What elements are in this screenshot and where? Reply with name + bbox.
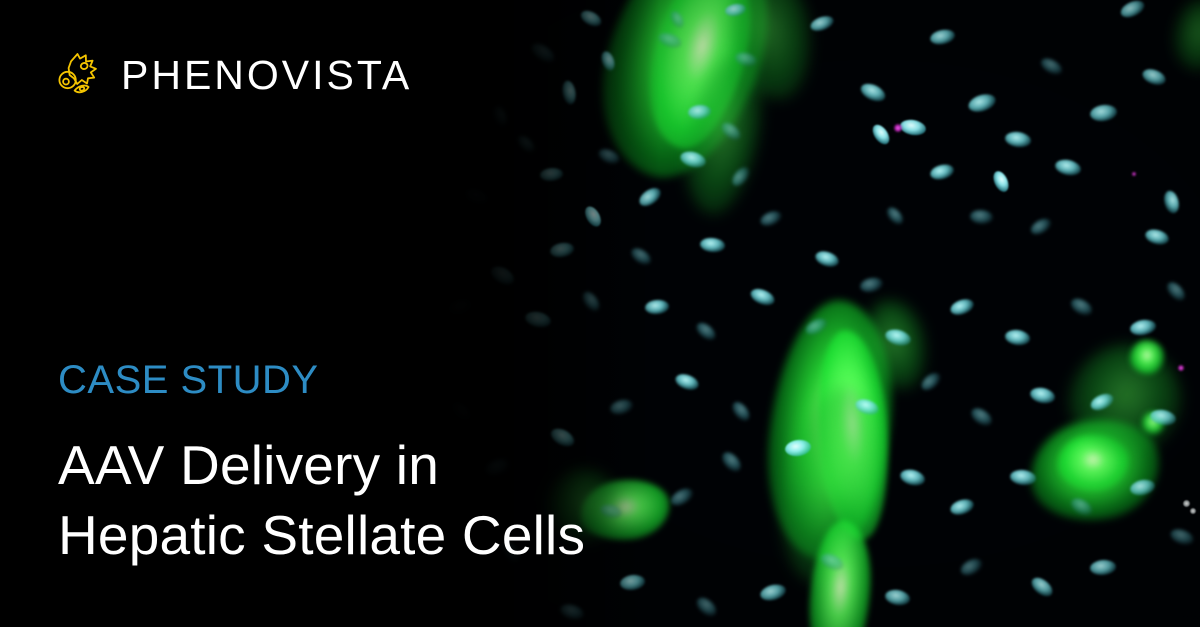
cell-nucleus <box>1162 189 1181 215</box>
case-study-banner: PHENOVISTA CASE STUDY AAV Delivery in He… <box>0 0 1200 627</box>
cell-nucleus <box>813 249 840 270</box>
cell-nucleus <box>884 588 911 607</box>
cell-nucleus <box>1140 66 1167 87</box>
cell-nucleus <box>644 299 669 315</box>
cell-nucleus <box>719 449 745 475</box>
cell-nucleus <box>693 594 719 620</box>
cell-nucleus <box>884 204 906 227</box>
cell-nucleus <box>958 555 985 578</box>
cell-nucleus <box>668 485 696 509</box>
cell-nucleus <box>858 80 888 105</box>
cell-nucleus <box>758 208 783 228</box>
cell-nucleus <box>1168 526 1195 547</box>
cell-nucleus <box>609 397 635 416</box>
page-title: AAV Delivery in Hepatic Stellate Cells <box>58 430 585 571</box>
cell-nucleus <box>561 80 578 106</box>
cell-nucleus <box>929 162 956 182</box>
cell-nucleus <box>966 91 998 115</box>
cell-nucleus <box>673 371 700 392</box>
cell-nucleus <box>1129 318 1157 337</box>
cell-nucleus <box>619 573 646 591</box>
cell-nucleus <box>899 467 927 488</box>
magenta-marker <box>1178 365 1184 371</box>
text-panel: PHENOVISTA CASE STUDY AAV Delivery in He… <box>0 0 560 627</box>
cell-nucleus <box>1028 215 1054 237</box>
cell-nucleus <box>1164 279 1188 304</box>
page-title-line-2: Hepatic Stellate Cells <box>58 500 585 570</box>
cell-nucleus <box>869 122 892 147</box>
cell-nucleus <box>899 118 927 137</box>
cell-nucleus <box>1029 386 1057 406</box>
cell-nucleus <box>628 245 653 268</box>
page-title-line-1: AAV Delivery in <box>58 430 585 500</box>
brand-lockup: PHENOVISTA <box>57 50 412 100</box>
cell-nucleus <box>948 296 975 317</box>
cell-nucleus <box>990 169 1011 194</box>
magenta-marker <box>1132 172 1136 176</box>
stellate-cell-logo-icon <box>57 50 107 100</box>
cell-nucleus <box>1144 227 1171 247</box>
cell-nucleus <box>1004 130 1032 148</box>
cell-nucleus <box>582 204 604 230</box>
cell-nucleus <box>1004 328 1031 346</box>
cell-nucleus <box>1054 157 1083 177</box>
brand-wordmark: PHENOVISTA <box>121 55 412 96</box>
cell-nucleus <box>929 28 956 47</box>
cell-nucleus <box>558 602 585 623</box>
cell-nucleus <box>729 399 753 424</box>
cell-nucleus <box>969 209 993 225</box>
cell-nucleus <box>579 289 602 314</box>
cell-nucleus <box>859 276 884 294</box>
cell-nucleus <box>1038 55 1064 78</box>
cell-nucleus <box>578 8 604 30</box>
cell-nucleus <box>948 497 975 518</box>
cell-nucleus <box>759 582 788 603</box>
cell-nucleus <box>699 237 725 253</box>
cell-nucleus <box>636 184 664 209</box>
cell-nucleus <box>918 369 943 393</box>
bright-speck <box>1190 508 1196 514</box>
cell-nucleus <box>1028 574 1056 600</box>
cell-nucleus <box>748 286 776 308</box>
gfp-positive-cell <box>1130 340 1164 374</box>
cell-nucleus <box>1068 295 1095 319</box>
cell-nucleus <box>1089 103 1118 123</box>
cell-nucleus <box>809 13 836 33</box>
eyebrow-label: CASE STUDY <box>58 360 319 400</box>
cell-nucleus <box>968 405 995 430</box>
magenta-marker <box>894 124 902 132</box>
cell-nucleus <box>1118 0 1147 21</box>
gfp-positive-cell <box>1170 0 1200 73</box>
bright-speck <box>1183 500 1190 507</box>
cell-nucleus <box>1089 559 1116 576</box>
cell-nucleus <box>693 319 718 343</box>
